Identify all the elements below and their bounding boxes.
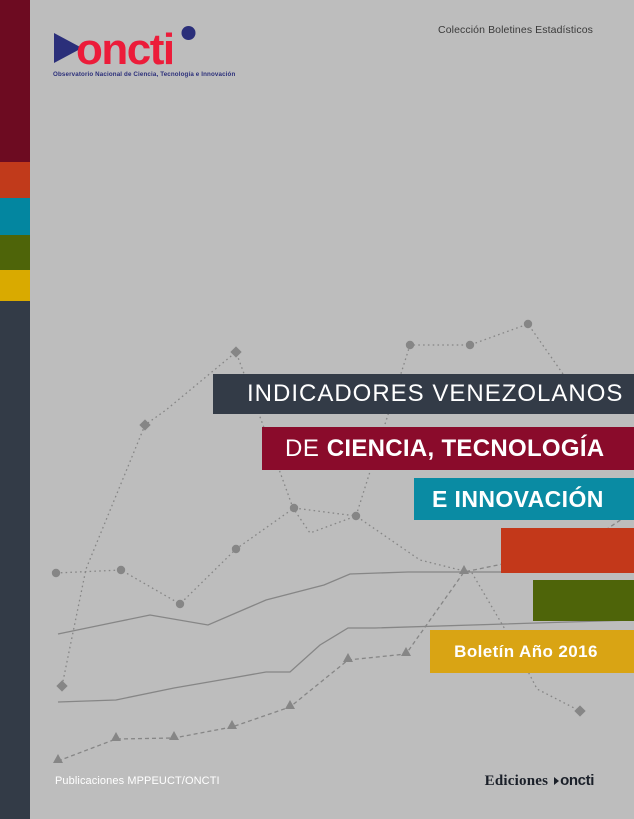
- title-line-1-text: INDICADORES VENEZOLANOS: [247, 380, 623, 408]
- rail-segment-teal: [0, 198, 30, 235]
- rail-segment-green: [0, 235, 30, 270]
- svg-text:oncti: oncti: [76, 25, 174, 69]
- title-line-1: INDICADORES VENEZOLANOS: [213, 374, 634, 414]
- footer-publisher: Publicaciones MPPEUCT/ONCTI: [55, 775, 220, 787]
- accent-block-green: [533, 580, 634, 621]
- title-line-3-text: E INNOVACIÓN: [432, 486, 604, 513]
- oncti-tagline: Observatorio Nacional de Ciencia, Tecnol…: [53, 71, 235, 78]
- bulletin-year-badge: Boletín Año 2016: [430, 630, 634, 673]
- footer-imprint-word: Ediciones: [485, 773, 548, 790]
- footer-imprint: Ediciones oncti: [485, 772, 594, 790]
- collection-label: Colección Boletines Estadísticos: [438, 24, 593, 36]
- footer-oncti-logo: oncti: [554, 772, 594, 789]
- title-line-2: DE CIENCIA, TECNOLOGÍA: [262, 427, 634, 470]
- publication-cover: oncti Observatorio Nacional de Ciencia, …: [0, 0, 634, 819]
- rail-segment-gold: [0, 270, 30, 301]
- triangle-icon: [554, 777, 559, 785]
- rail-segment-maroon: [0, 0, 30, 162]
- rail-segment-navy: [0, 301, 30, 819]
- accent-block-orange: [501, 528, 634, 573]
- title-line-2-light: DE: [285, 435, 320, 463]
- footer-oncti-text: oncti: [560, 772, 594, 789]
- title-line-2-bold: CIENCIA, TECNOLOGÍA: [327, 435, 605, 463]
- oncti-wordmark-icon: oncti: [52, 25, 212, 69]
- oncti-logo: oncti Observatorio Nacional de Ciencia, …: [52, 25, 282, 87]
- rail-segment-orange: [0, 162, 30, 198]
- title-line-3: E INNOVACIÓN: [414, 478, 634, 520]
